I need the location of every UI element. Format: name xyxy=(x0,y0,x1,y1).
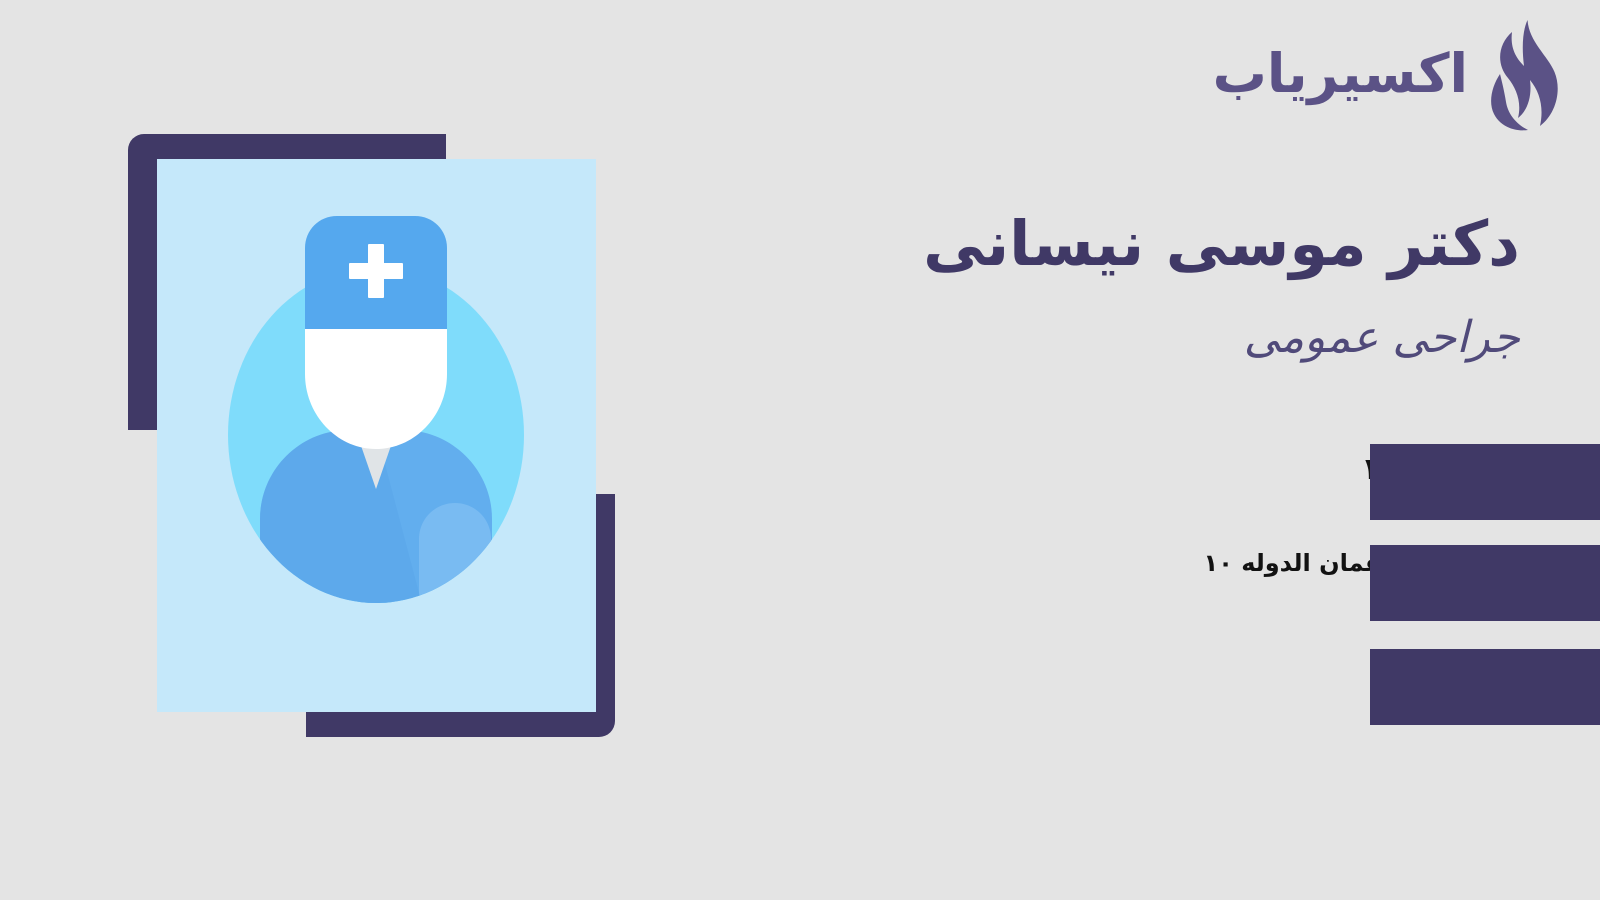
brand-logo[interactable]: اکسیریاب xyxy=(1213,18,1560,136)
illustration-group xyxy=(0,0,700,900)
flame-droplet-icon xyxy=(1482,18,1560,136)
doctor-specialty: جراحی عمومی xyxy=(780,309,1520,366)
decor-bar-1 xyxy=(1370,444,1600,520)
decor-bar-3 xyxy=(1370,649,1600,725)
doctor-avatar-icon xyxy=(157,159,596,712)
doctor-name: دکتر موسی نیسانی xyxy=(780,205,1520,283)
brand-name-text: اکسیریاب xyxy=(1213,47,1468,107)
decor-bar-2 xyxy=(1370,545,1600,621)
doctor-info-block: دکتر موسی نیسانی جراحی عمومی ۱۰-۵۴۹۰۰۶ ب… xyxy=(780,205,1520,577)
business-card-canvas: اکسیریاب xyxy=(0,0,1600,900)
